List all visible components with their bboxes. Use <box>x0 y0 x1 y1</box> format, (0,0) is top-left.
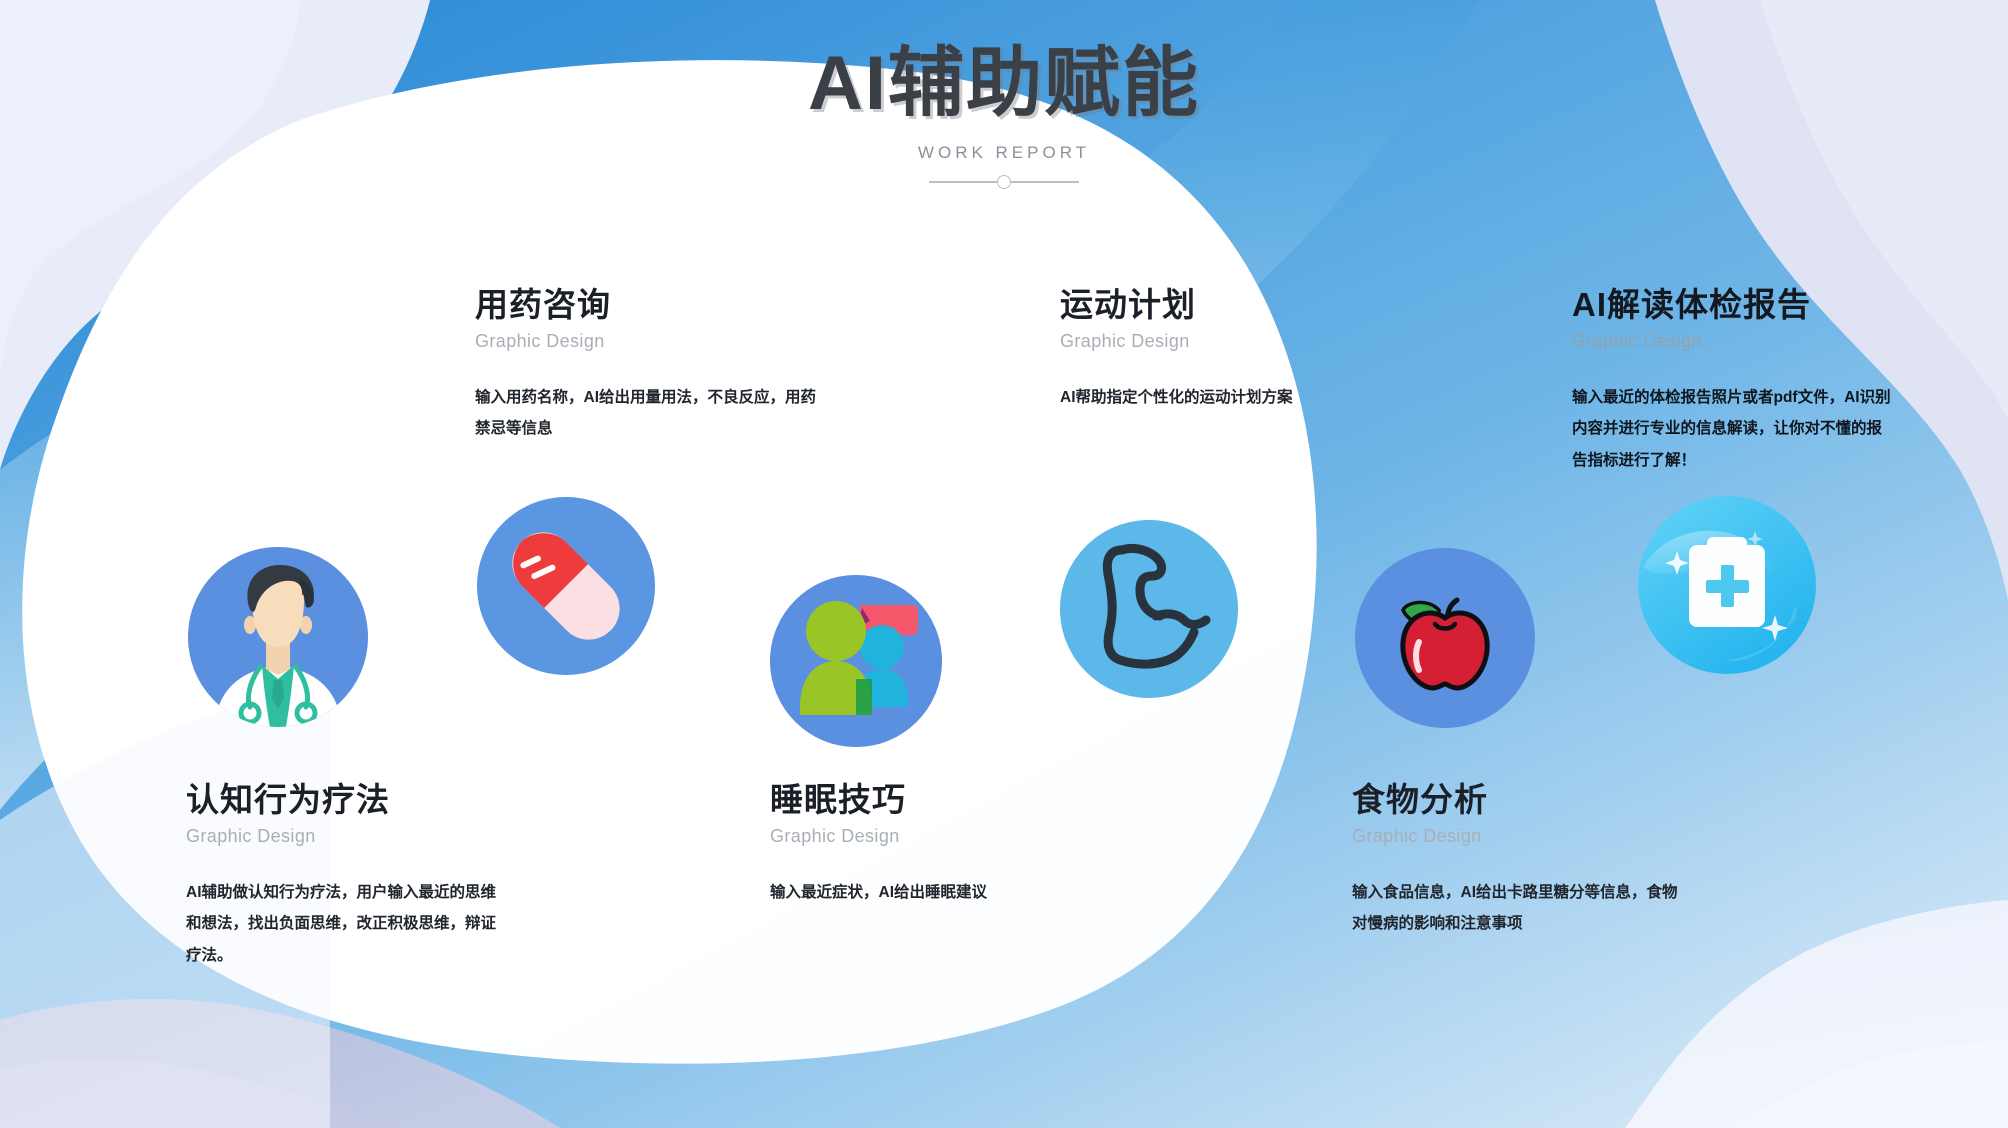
page-title: AI辅助赋能 <box>0 40 2008 127</box>
icon-medical-clipboard[interactable] <box>1637 495 1817 675</box>
block-description: AI帮助指定个性化的运动计划方案 <box>1060 382 1360 414</box>
slide-canvas: AI辅助赋能 WORK REPORT <box>0 0 2008 1128</box>
icon-flexed-bicep[interactable] <box>1060 520 1238 698</box>
block-subtitle: Graphic Design <box>186 826 526 847</box>
icon-pill-capsule[interactable] <box>477 497 655 675</box>
block-medication-consult: 用药咨询 Graphic Design 输入用药名称，AI给出用量用法，不良反应… <box>475 285 825 445</box>
pill-capsule-icon <box>477 497 655 675</box>
icon-people-chat[interactable] <box>770 575 942 747</box>
medical-clipboard-icon <box>1637 495 1817 675</box>
block-title: 食物分析 <box>1352 780 1692 820</box>
divider <box>929 175 1079 189</box>
block-cognitive-behavioral-therapy: 认知行为疗法 Graphic Design AI辅助做认知行为疗法，用户输入最近… <box>186 780 526 972</box>
icon-doctor-avatar[interactable] <box>188 547 368 727</box>
block-description: 输入最近的体检报告照片或者pdf文件，AI识别内容并进行专业的信息解读，让你对不… <box>1572 382 1892 477</box>
block-subtitle: Graphic Design <box>1572 331 1902 352</box>
people-chat-icon <box>770 575 942 747</box>
icon-apple[interactable] <box>1355 548 1535 728</box>
block-subtitle: Graphic Design <box>1060 331 1360 352</box>
block-title: 认知行为疗法 <box>186 780 526 820</box>
block-description: 输入最近症状，AI给出睡眠建议 <box>770 877 1070 909</box>
doctor-avatar-icon <box>188 547 368 727</box>
block-ai-health-report: AI解读体检报告 Graphic Design 输入最近的体检报告照片或者pdf… <box>1572 285 1902 477</box>
block-sleep-tips: 睡眠技巧 Graphic Design 输入最近症状，AI给出睡眠建议 <box>770 780 1070 908</box>
block-description: AI辅助做认知行为疗法，用户输入最近的思维和想法，找出负面思维，改正积极思维，辩… <box>186 877 506 972</box>
block-title: 用药咨询 <box>475 285 825 325</box>
apple-icon <box>1355 548 1535 728</box>
slide-header: AI辅助赋能 WORK REPORT <box>0 40 2008 189</box>
block-subtitle: Graphic Design <box>1352 826 1692 847</box>
divider-dot-icon <box>997 175 1011 189</box>
block-title: 运动计划 <box>1060 285 1360 325</box>
block-subtitle: Graphic Design <box>770 826 1070 847</box>
block-food-analysis: 食物分析 Graphic Design 输入食品信息，AI给出卡路里糖分等信息，… <box>1352 780 1692 940</box>
block-description: 输入用药名称，AI给出用量用法，不良反应，用药禁忌等信息 <box>475 382 820 446</box>
block-exercise-plan: 运动计划 Graphic Design AI帮助指定个性化的运动计划方案 <box>1060 285 1360 413</box>
page-subtitle: WORK REPORT <box>0 143 2008 163</box>
block-title: AI解读体检报告 <box>1572 285 1902 325</box>
block-title: 睡眠技巧 <box>770 780 1070 820</box>
block-description: 输入食品信息，AI给出卡路里糖分等信息，食物对慢病的影响和注意事项 <box>1352 877 1682 941</box>
block-subtitle: Graphic Design <box>475 331 825 352</box>
flexed-bicep-icon <box>1060 520 1238 698</box>
